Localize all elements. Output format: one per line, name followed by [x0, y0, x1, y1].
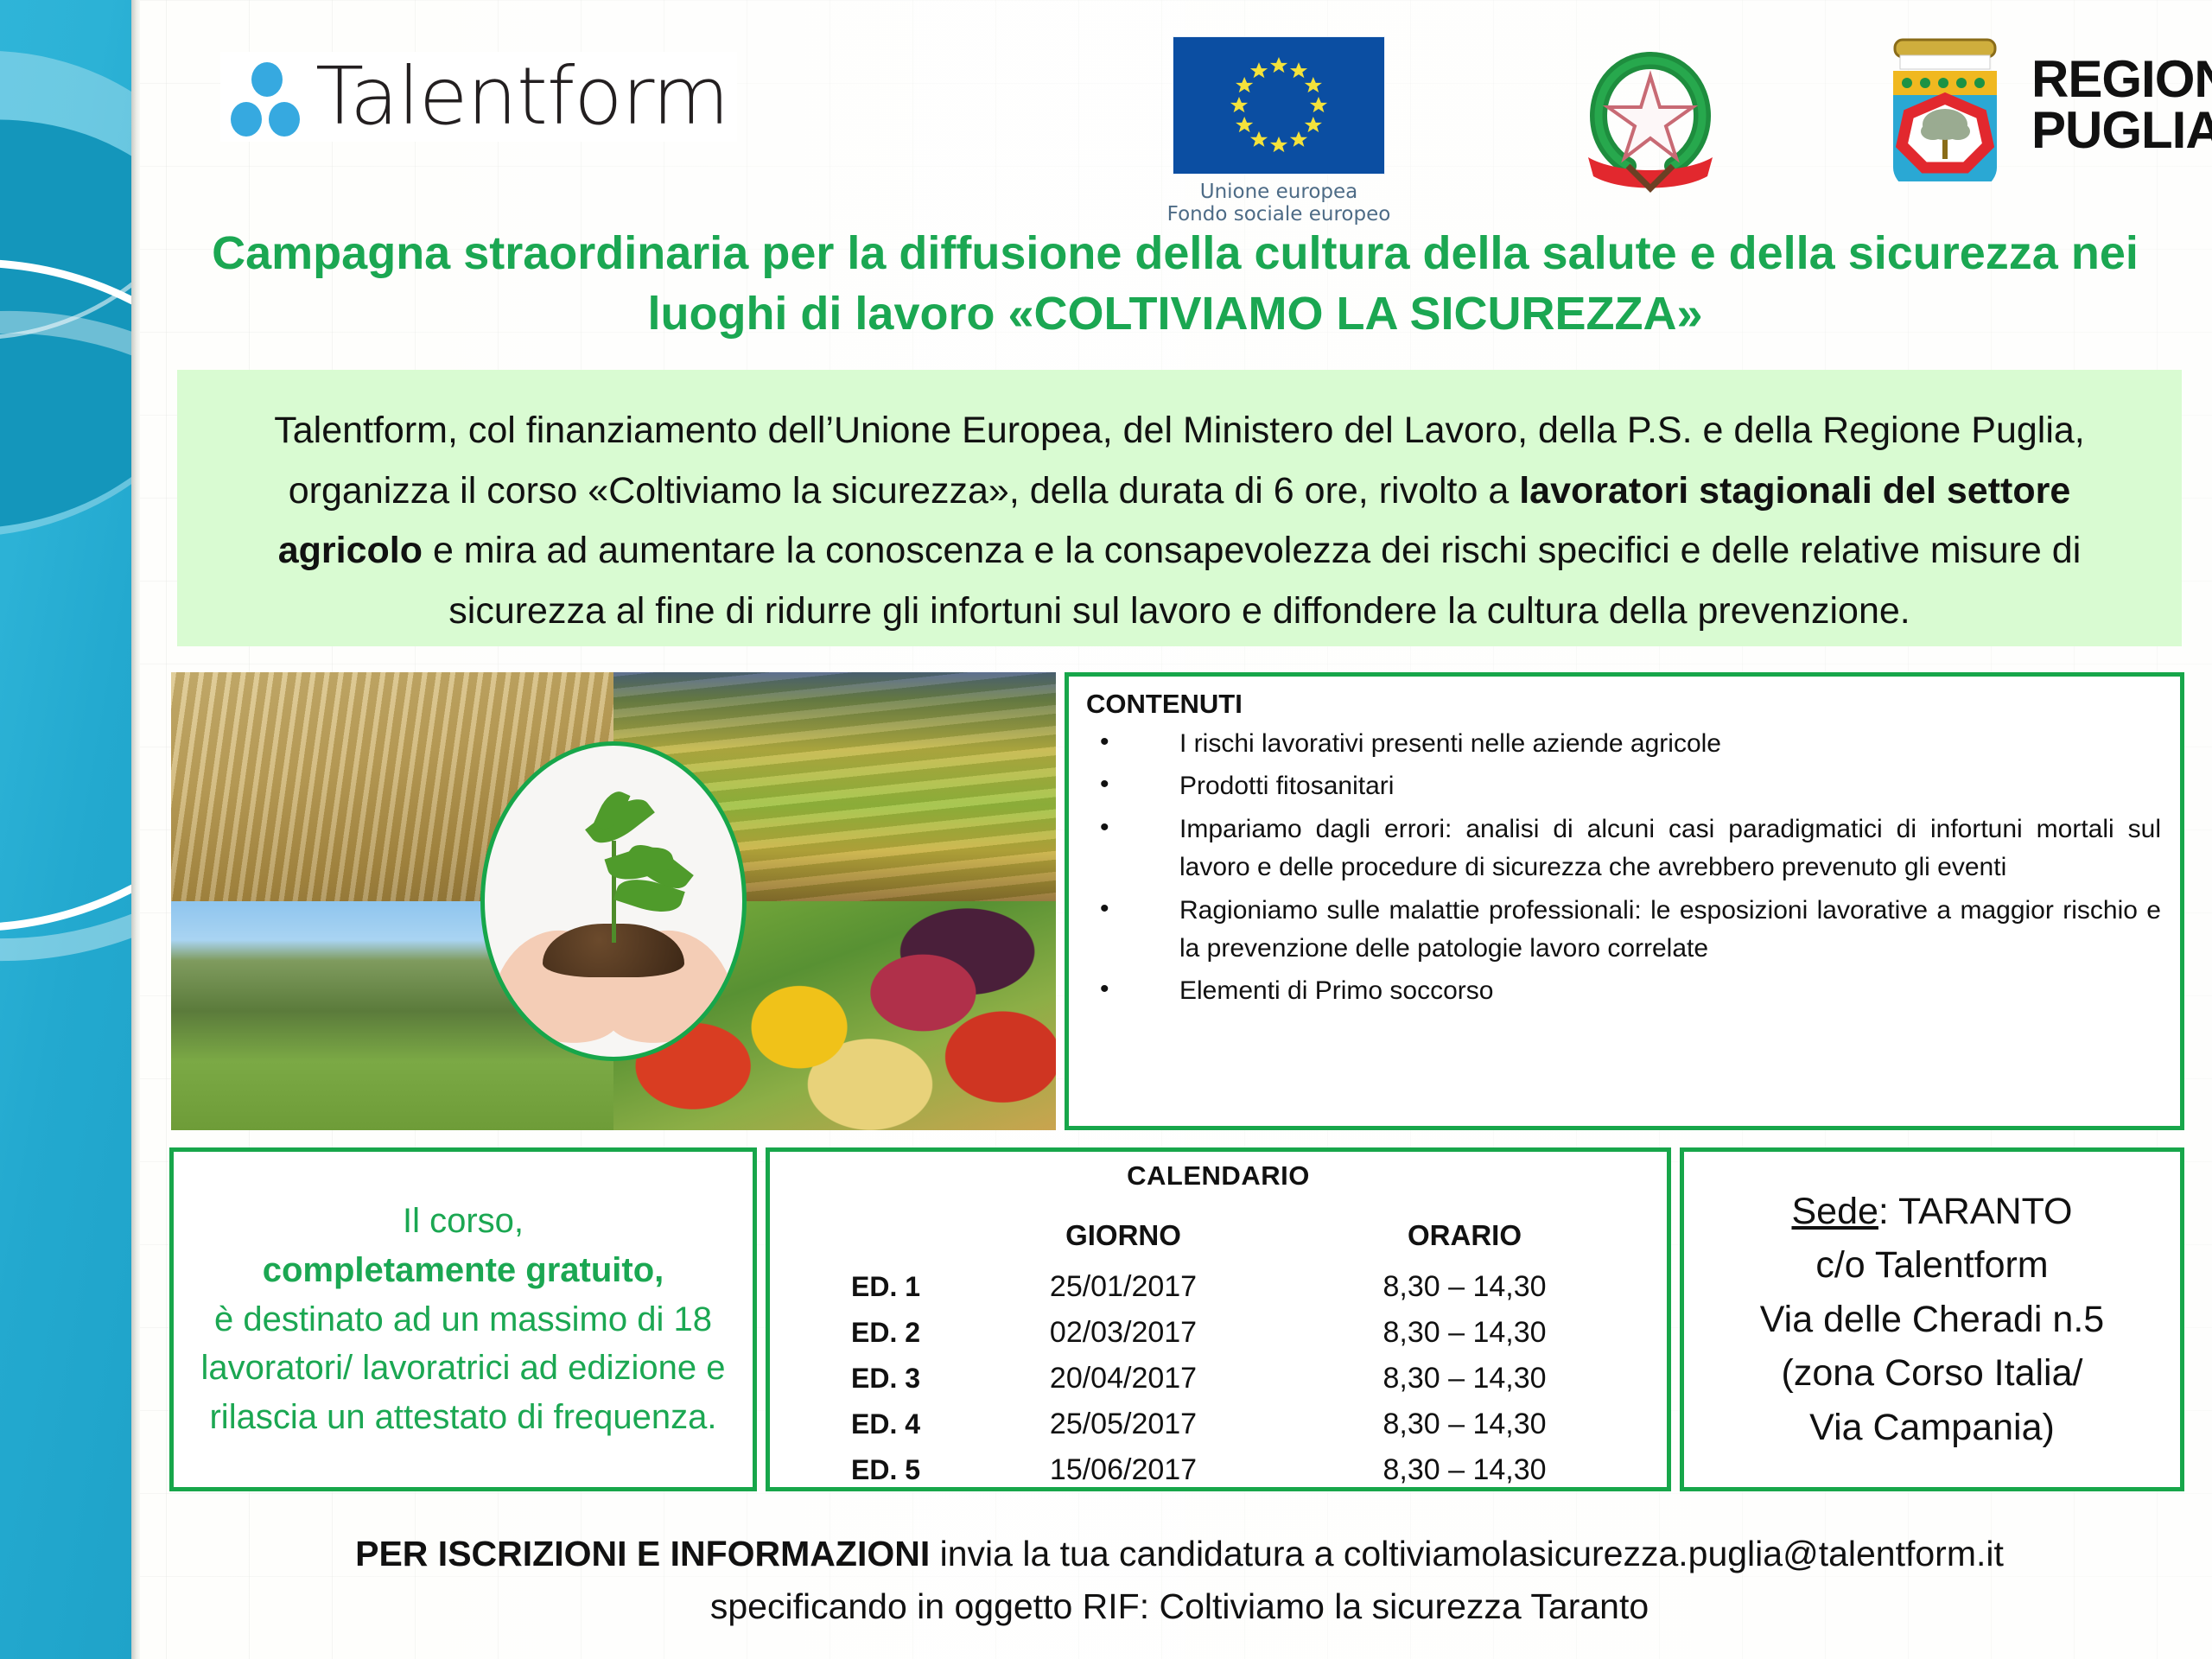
cell-edition: ED. 5 — [799, 1447, 955, 1493]
page-title-line1: Campagna straordinaria per la diffusione… — [212, 227, 2139, 279]
table-header-row: GIORNO ORARIO — [799, 1219, 1637, 1264]
header: Talentform — [173, 12, 2186, 213]
col-header-edition — [799, 1219, 955, 1264]
hands-holding-seedling-image — [480, 741, 747, 1061]
regione-puglia-line1: REGIONE — [2031, 54, 2212, 105]
table-row: ED. 1 25/01/2017 8,30 – 14,30 — [799, 1264, 1637, 1310]
intro-part2: e mira ad aumentare la conoscenza e la c… — [423, 530, 2081, 632]
cell-giorno: 02/03/2017 — [955, 1310, 1292, 1356]
calendario-table: GIORNO ORARIO ED. 1 25/01/2017 8,30 – 14… — [799, 1219, 1637, 1493]
contenuti-box: CONTENUTI I rischi lavorativi presenti n… — [1065, 672, 2184, 1130]
calendario-box: CALENDARIO GIORNO ORARIO ED. 1 25/01/201… — [766, 1147, 1671, 1491]
table-row: ED. 2 02/03/2017 8,30 – 14,30 — [799, 1310, 1637, 1356]
eu-flag-icon — [1173, 36, 1385, 175]
list-item: I rischi lavorativi presenti nelle azien… — [1086, 725, 2161, 763]
corso-line1: Il corso, — [403, 1202, 524, 1240]
corso-info-box: Il corso, completamente gratuito, è dest… — [169, 1147, 757, 1491]
sede-line2: c/o Talentform — [1815, 1244, 2048, 1286]
sede-info-box: Sede: TARANTO c/o Talentform Via delle C… — [1680, 1147, 2184, 1491]
corso-bold: completamente gratuito, — [263, 1251, 664, 1289]
table-row: ED. 3 20/04/2017 8,30 – 14,30 — [799, 1356, 1637, 1402]
table-row: ED. 4 25/05/2017 8,30 – 14,30 — [799, 1402, 1637, 1447]
cell-giorno: 25/05/2017 — [955, 1402, 1292, 1447]
cell-orario: 8,30 – 14,30 — [1292, 1402, 1637, 1447]
corso-rest: è destinato ad un massimo di 18 lavorato… — [201, 1300, 726, 1437]
cell-orario: 8,30 – 14,30 — [1292, 1264, 1637, 1310]
sede-label: Sede — [1791, 1191, 1878, 1232]
cell-orario: 8,30 – 14,30 — [1292, 1356, 1637, 1402]
eu-caption-line1: Unione europea — [1162, 181, 1395, 203]
cell-giorno: 15/06/2017 — [955, 1447, 1292, 1493]
sede-line3: Via delle Cheradi n.5 — [1760, 1299, 2104, 1340]
cell-giorno: 20/04/2017 — [955, 1356, 1292, 1402]
sede-line4: (zona Corso Italia/ — [1782, 1352, 2083, 1394]
intro-paragraph: Talentform, col finanziamento dell’Union… — [177, 370, 2182, 646]
eu-logo: Unione europea Fondo sociale europeo — [1162, 36, 1395, 226]
cell-giorno: 25/01/2017 — [955, 1264, 1292, 1310]
regione-puglia-logo: REGIONE PUGLIA — [1879, 29, 2212, 181]
col-header-giorno: GIORNO — [955, 1219, 1292, 1264]
regione-puglia-shield-icon — [1879, 29, 2011, 181]
flyer-page: Talentform — [0, 0, 2212, 1659]
sede-city: : TARANTO — [1878, 1191, 2073, 1232]
footer-line2: specificando in oggetto RIF: Coltiviamo … — [173, 1580, 2186, 1633]
cell-orario: 8,30 – 14,30 — [1292, 1310, 1637, 1356]
table-row: ED. 5 15/06/2017 8,30 – 14,30 — [799, 1447, 1637, 1493]
cell-edition: ED. 4 — [799, 1402, 955, 1447]
sede-line5: Via Campania) — [1809, 1407, 2055, 1448]
italian-republic-emblem-icon — [1538, 31, 1763, 195]
page-title-line2: luoghi di lavoro «COLTIVIAMO LA SICUREZZ… — [647, 288, 1702, 340]
list-item: Elementi di Primo soccorso — [1086, 972, 2161, 1010]
regione-puglia-wordmark: REGIONE PUGLIA — [2031, 54, 2212, 156]
cell-orario: 8,30 – 14,30 — [1292, 1447, 1637, 1493]
cell-edition: ED. 2 — [799, 1310, 955, 1356]
list-item: Impariamo dagli errori: analisi di alcun… — [1086, 810, 2161, 887]
three-dots-icon — [229, 57, 300, 137]
logo-wordmark: Talentform — [315, 57, 728, 137]
footer-bold: PER ISCRIZIONI E INFORMAZIONI — [355, 1534, 930, 1573]
page-title: Campagna straordinaria per la diffusione… — [173, 223, 2177, 344]
cell-edition: ED. 3 — [799, 1356, 955, 1402]
list-item: Prodotti fitosanitari — [1086, 767, 2161, 805]
talentform-logo: Talentform — [220, 52, 737, 142]
contenuti-list: I rischi lavorativi presenti nelle azien… — [1086, 725, 2161, 1011]
cell-edition: ED. 1 — [799, 1264, 955, 1310]
footer-rest: invia la tua candidatura a coltiviamolas… — [930, 1534, 2004, 1573]
list-item: Ragioniamo sulle malattie professionali:… — [1086, 892, 2161, 969]
contenuti-heading: CONTENUTI — [1086, 689, 2161, 720]
col-header-orario: ORARIO — [1292, 1219, 1637, 1264]
calendario-title: CALENDARIO — [770, 1160, 1667, 1192]
footer-contact: PER ISCRIZIONI E INFORMAZIONI invia la t… — [173, 1528, 2186, 1632]
agriculture-image-collage — [171, 672, 1056, 1130]
eu-caption: Unione europea Fondo sociale europeo — [1162, 181, 1395, 226]
regione-puglia-line2: PUGLIA — [2031, 105, 2212, 156]
